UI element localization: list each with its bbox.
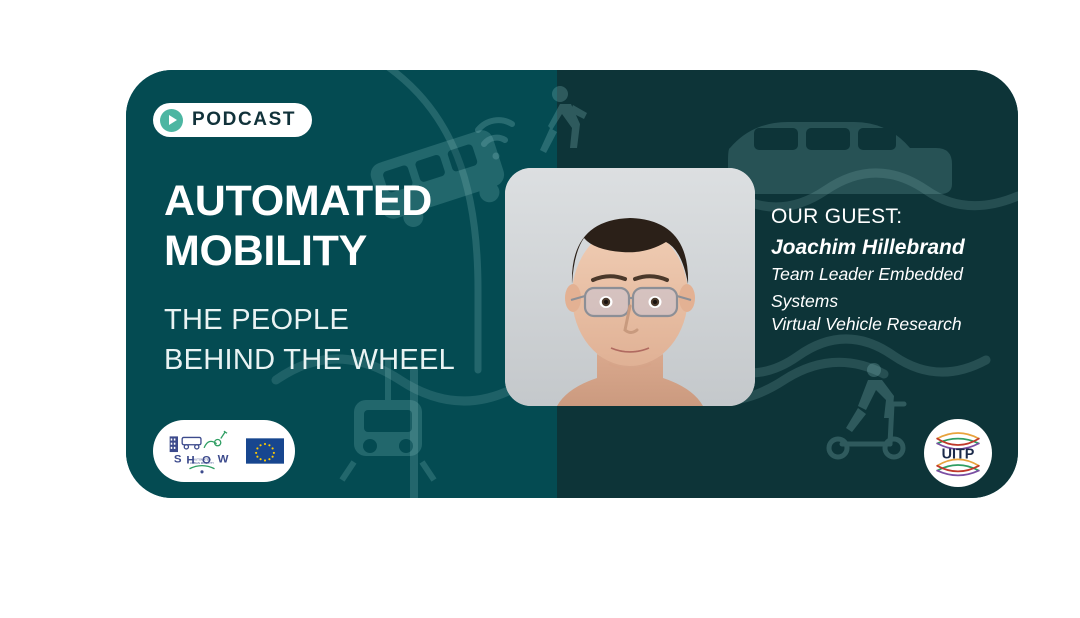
svg-text:W: W [217, 453, 228, 465]
svg-text:URBAN MOBILITY: URBAN MOBILITY [189, 461, 213, 465]
guest-info-block: OUR GUEST: Joachim Hillebrand Team Leade… [771, 205, 1011, 337]
guest-name: Joachim Hillebrand [771, 236, 1011, 260]
play-icon [160, 109, 183, 132]
subtitle-line-2: BEHIND THE WHEEL [164, 341, 534, 380]
svg-text:UITP: UITP [942, 447, 975, 463]
podcast-card: PODCAST AUTOMATED MOBILITY THE PEOPLE BE… [126, 70, 1018, 498]
uitp-logo: UITP [924, 419, 992, 487]
guest-photo [505, 168, 755, 406]
uitp-logo-mark: UITP [926, 421, 990, 485]
title-line-1: AUTOMATED [164, 176, 534, 226]
guest-portrait [505, 168, 755, 406]
guest-organisation: Virtual Vehicle Research [771, 313, 1011, 337]
podcast-badge-label: PODCAST [192, 109, 296, 131]
subtitle-line-1: THE PEOPLE [164, 301, 534, 340]
podcast-badge: PODCAST [153, 103, 312, 137]
svg-text:S: S [173, 453, 181, 465]
title-line-2: MOBILITY [164, 226, 534, 276]
guest-role-line-2: Systems [771, 290, 1011, 314]
poster-canvas: PODCAST AUTOMATED MOBILITY THE PEOPLE BE… [0, 0, 1080, 618]
show-eu-logo-pill: S H O W AUTOMATED URBAN MOBILITY [153, 420, 295, 482]
eu-flag-icon [246, 438, 284, 464]
guest-label: OUR GUEST: [771, 205, 1011, 229]
show-logo: S H O W AUTOMATED URBAN MOBILITY [165, 427, 239, 475]
guest-role-line-1: Team Leader Embedded [771, 263, 1011, 287]
title-block: AUTOMATED MOBILITY THE PEOPLE BEHIND THE… [164, 176, 534, 380]
